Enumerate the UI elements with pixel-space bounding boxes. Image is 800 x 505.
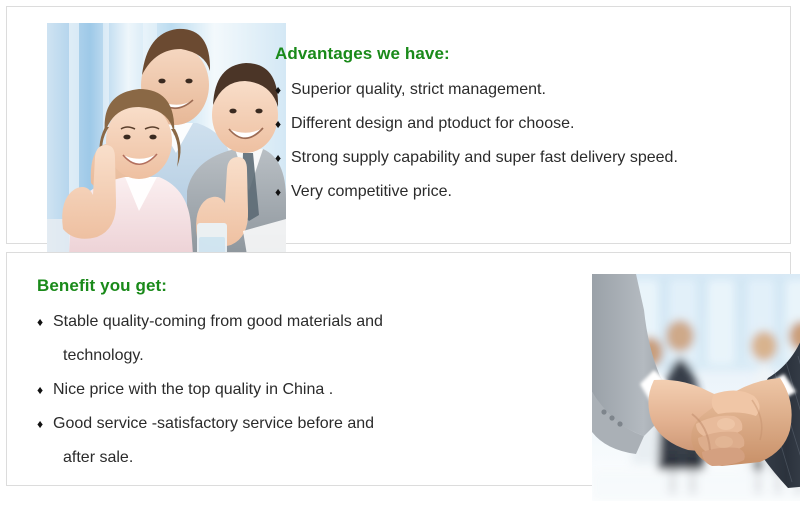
list-item: ♦ Superior quality, strict management. [275,73,780,107]
benefits-card: Benefit you get: ♦ Stable quality-coming… [6,252,791,486]
list-item-text: Very competitive price. [291,183,452,200]
promo-page: Advantages we have: ♦ Superior quality, … [0,0,800,505]
diamond-bullet-icon: ♦ [37,373,43,407]
advantages-bullet-list: ♦ Superior quality, strict management. ♦… [275,73,780,209]
diamond-bullet-icon: ♦ [275,175,281,209]
list-item: ♦ Nice price with the top quality in Chi… [37,373,547,407]
diamond-bullet-icon: ♦ [37,407,43,441]
list-item-text: Superior quality, strict management. [291,81,546,98]
list-item-text-continuation: after sale. [53,441,547,475]
benefits-text-block: Benefit you get: ♦ Stable quality-coming… [37,275,547,475]
team-thumbs-up-photo [47,23,286,255]
diamond-bullet-icon: ♦ [275,141,281,175]
team-photo-illustration [47,23,286,255]
list-item: ♦ Very competitive price. [275,175,780,209]
advantages-heading: Advantages we have: [275,43,780,65]
list-item-text: Stable quality-coming from good material… [53,313,383,330]
list-item: ♦ Different design and ptoduct for choos… [275,107,780,141]
list-item-text: Strong supply capability and super fast … [291,149,678,166]
diamond-bullet-icon: ♦ [37,305,43,339]
handshake-photo [592,274,800,501]
list-item-text: Different design and ptoduct for choose. [291,115,574,132]
list-item: ♦ Strong supply capability and super fas… [275,141,780,175]
list-item-text-continuation: technology. [53,339,547,373]
diamond-bullet-icon: ♦ [275,107,281,141]
list-item-text: Good service -satisfactory service befor… [53,415,374,432]
list-item: ♦ Good service -satisfactory service bef… [37,407,547,475]
list-item-text: Nice price with the top quality in China… [53,381,333,398]
benefits-bullet-list: ♦ Stable quality-coming from good materi… [37,305,547,475]
list-item: ♦ Stable quality-coming from good materi… [37,305,547,373]
advantages-text-block: Advantages we have: ♦ Superior quality, … [275,43,780,209]
handshake-photo-illustration [592,274,800,501]
advantages-card: Advantages we have: ♦ Superior quality, … [6,6,791,244]
diamond-bullet-icon: ♦ [275,73,281,107]
benefits-heading: Benefit you get: [37,275,547,297]
